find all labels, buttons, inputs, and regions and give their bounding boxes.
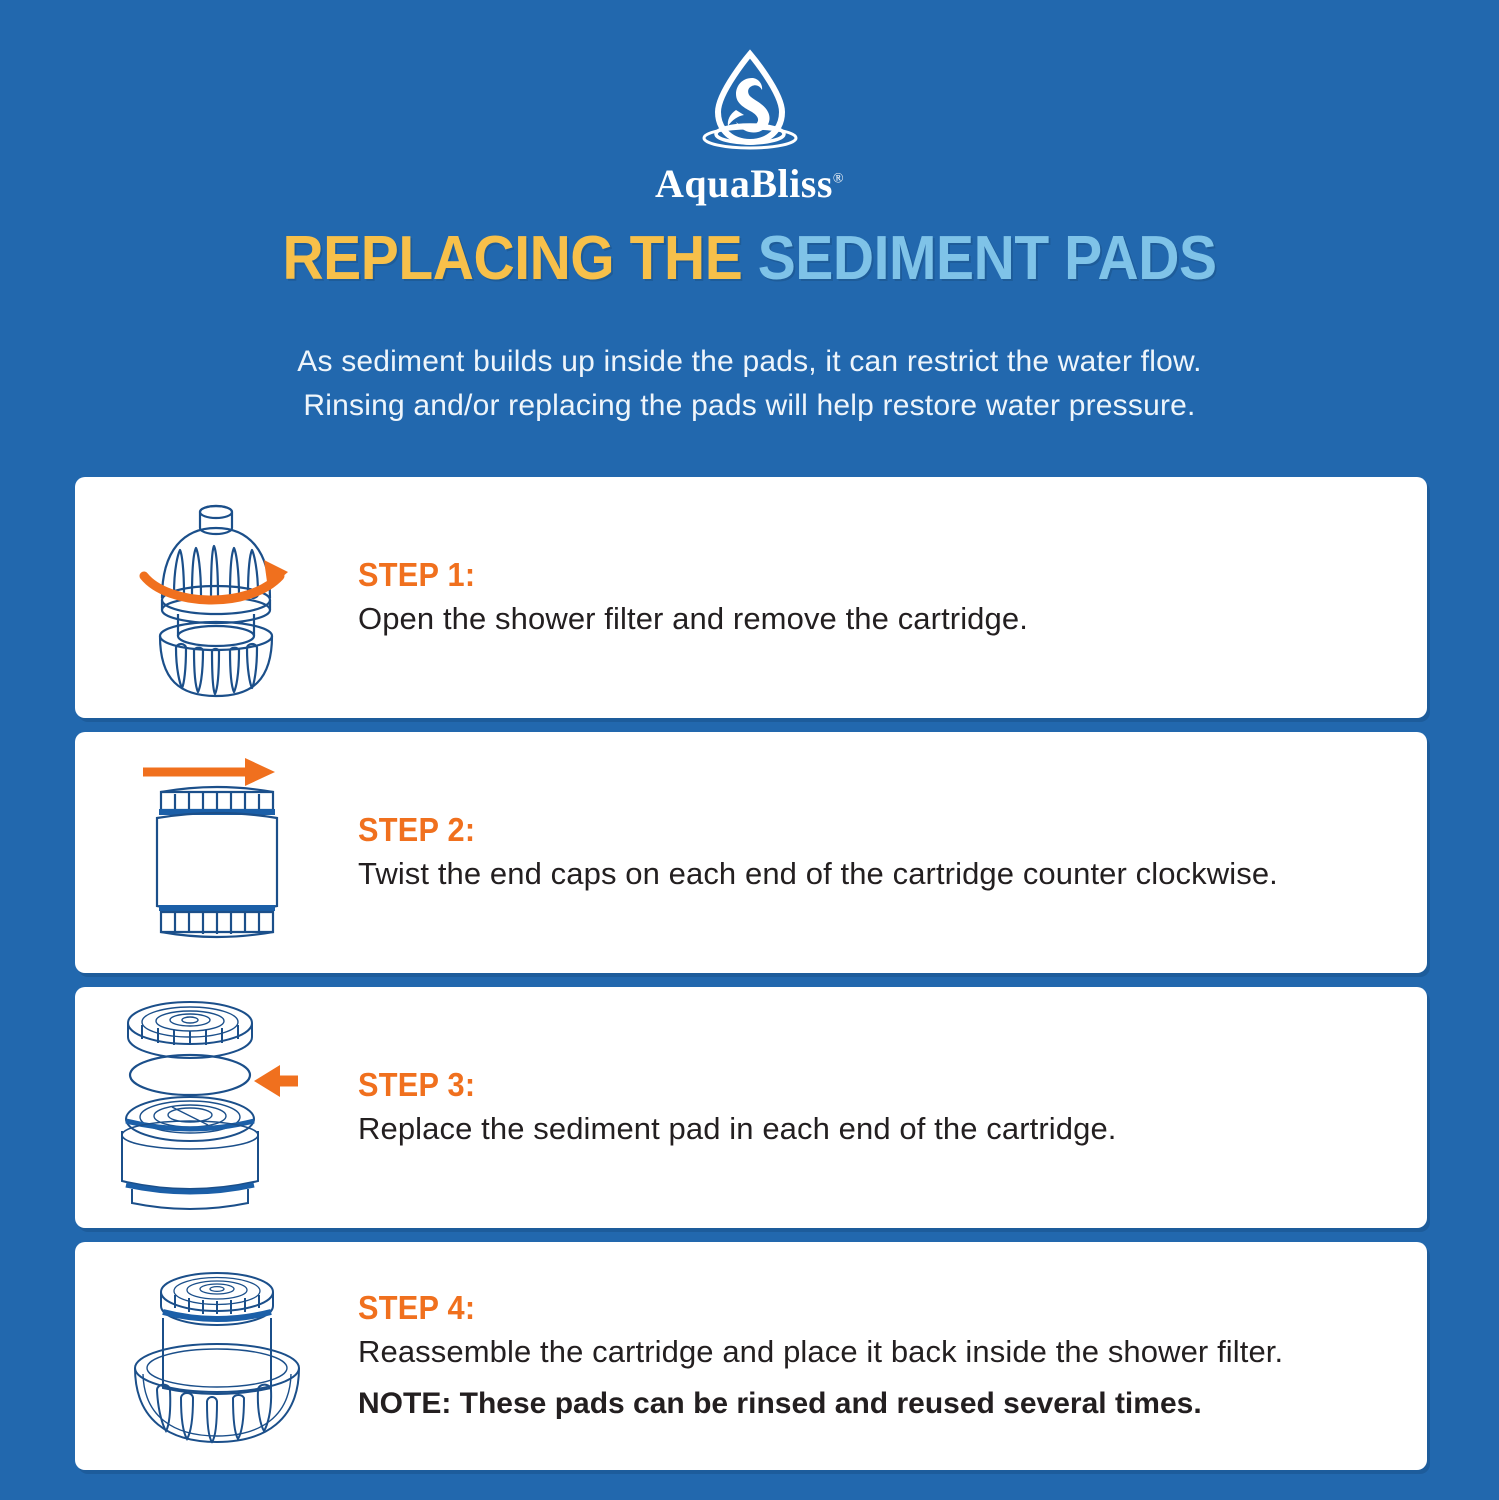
step-4-description: Reassemble the cartridge and place it ba… [358,1331,1401,1372]
step-1-label: STEP 1: [358,556,1328,594]
step-3-label: STEP 3: [358,1066,1328,1104]
step-1-illustration [75,477,358,718]
straight-orange-arrow-left-icon [254,1065,298,1097]
cartridge-with-end-caps-icon [127,748,307,958]
page-title-part-one: REPLACING THE [282,224,742,293]
shower-filter-housing-twist-icon [122,490,312,705]
steps-list: STEP 1: Open the shower filter and remov… [75,477,1427,1484]
step-4-text-block: STEP 4: Reassemble the cartridge and pla… [358,1289,1427,1423]
cartridge-inside-filter-bowl-icon [117,1256,317,1456]
step-card-3: STEP 3: Replace the sediment pad in each… [75,987,1427,1228]
step-card-4: STEP 4: Reassemble the cartridge and pla… [75,1242,1427,1470]
straight-orange-arrow-right-icon [143,758,275,786]
step-card-2: STEP 2: Twist the end caps on each end o… [75,732,1427,973]
step-1-description: Open the shower filter and remove the ca… [358,598,1401,639]
subtitle-line-2: Rinsing and/or replacing the pads will h… [0,384,1499,428]
subtitle-line-1: As sediment builds up inside the pads, i… [0,340,1499,384]
exploded-cartridge-sediment-pad-icon [102,995,332,1220]
step-3-description: Replace the sediment pad in each end of … [358,1108,1401,1149]
brand-name: AquaBliss® [655,160,844,207]
step-2-label: STEP 2: [358,811,1328,849]
step-2-illustration [75,732,358,973]
page-subtitle: As sediment builds up inside the pads, i… [0,340,1499,427]
infographic-page: AquaBliss® REPLACING THE SEDIMENT PADS A… [0,0,1499,1500]
page-title-part-two: SEDIMENT PADS [758,224,1217,293]
registered-mark: ® [833,172,844,187]
step-4-label: STEP 4: [358,1289,1328,1327]
brand-logo: AquaBliss® [0,48,1499,207]
water-drop-swan-logo-icon [690,48,810,156]
step-3-text-block: STEP 3: Replace the sediment pad in each… [358,1066,1427,1149]
step-2-description: Twist the end caps on each end of the ca… [358,853,1401,894]
step-3-illustration [75,987,358,1228]
step-2-text-block: STEP 2: Twist the end caps on each end o… [358,811,1427,894]
step-4-illustration [75,1242,358,1470]
step-1-text-block: STEP 1: Open the shower filter and remov… [358,556,1427,639]
step-4-note: NOTE: These pads can be rinsed and reuse… [358,1384,1401,1423]
page-title: REPLACING THE SEDIMENT PADS [60,228,1439,290]
step-card-1: STEP 1: Open the shower filter and remov… [75,477,1427,718]
